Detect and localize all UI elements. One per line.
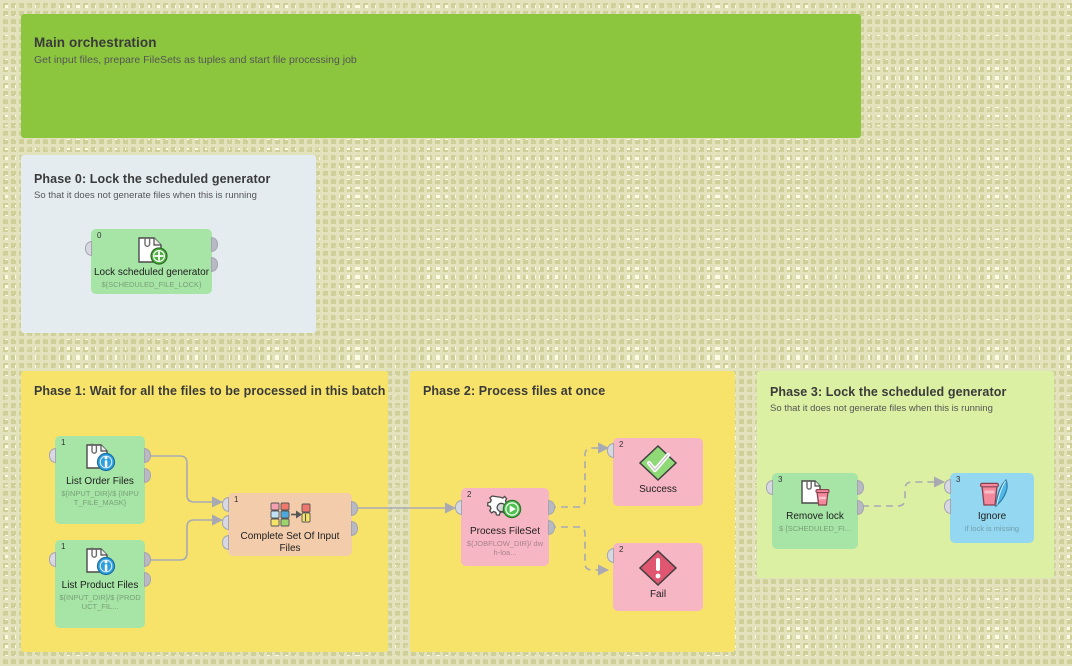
node-complete-set-of-input-files[interactable]: 1 Complete Set Of Input Files [228,493,352,556]
node-success[interactable]: 2 Success [613,438,703,506]
node-list-product-files[interactable]: 1 List Product Files ${INPUT_DIR}/$ {PRO… [55,540,145,628]
node-subtitle: ${JOBFLOW_DIR}/ dwh-loa... [465,539,545,557]
node-subtitle: ${INPUT_DIR}/$ {PRODUCT_FIL... [59,593,141,611]
gear-play-icon [461,493,549,525]
trash-feather-icon [950,478,1034,510]
panel-main-subtitle: Get input files, prepare FileSets as tup… [34,54,861,66]
node-label: List Product Files [57,580,143,592]
panel-phase-0-title: Phase 0: Lock the scheduled generator [34,172,316,186]
node-label: Process FileSet [463,526,547,538]
node-subtitle: ${SCHEDULED_FILE_LOCK} [95,280,208,289]
node-label: Complete Set Of Input Files [230,531,350,555]
document-info-icon [55,441,145,475]
panel-phase-3-title: Phase 3: Lock the scheduled generator [770,385,1054,399]
node-subtitle: ${INPUT_DIR}/$ {INPUT_FILE_MASK} [59,489,141,507]
panel-main-orchestration[interactable]: Main orchestration Get input files, prep… [21,14,861,138]
node-label: Success [615,484,701,496]
alert-diamond-icon [613,549,703,587]
check-diamond-icon [613,444,703,482]
node-remove-lock[interactable]: 3 Remove lock $ {SCHEDULED_FI... [772,473,858,549]
panel-main-title: Main orchestration [34,35,861,50]
node-process-fileset[interactable]: 2 Process FileSet ${JOBFLOW_DIR}/ dwh-lo… [461,488,549,566]
workflow-canvas[interactable]: Main orchestration Get input files, prep… [0,0,1072,666]
panel-phase-0-subtitle: So that it does not generate files when … [34,190,316,201]
document-info-icon [55,545,145,579]
node-subtitle: if lock is missing [954,524,1030,533]
node-subtitle: $ {SCHEDULED_FI... [776,524,854,533]
node-label: List Order Files [57,476,143,488]
node-label: Lock scheduled generator [93,267,210,279]
document-delete-icon [772,478,858,510]
port-in-c[interactable] [222,535,229,550]
node-label: Ignore [952,511,1032,523]
node-ignore[interactable]: 3 Ignore if lock is missing [950,473,1034,543]
node-list-order-files[interactable]: 1 List Order Files ${INPUT_DIR}/$ {INPUT… [55,436,145,524]
document-add-icon [91,235,212,265]
panel-phase-3-subtitle: So that it does not generate files when … [770,403,1054,414]
panel-phase-2-title: Phase 2: Process files at once [423,384,735,398]
node-label: Fail [615,589,701,601]
merge-tuples-icon [228,500,352,528]
panel-phase-1-title: Phase 1: Wait for all the files to be pr… [34,384,388,398]
node-lock-scheduled-generator[interactable]: 0 Lock scheduled generator ${SCHEDULED_F… [91,229,212,294]
node-fail[interactable]: 2 Fail [613,543,703,611]
node-label: Remove lock [774,511,856,523]
